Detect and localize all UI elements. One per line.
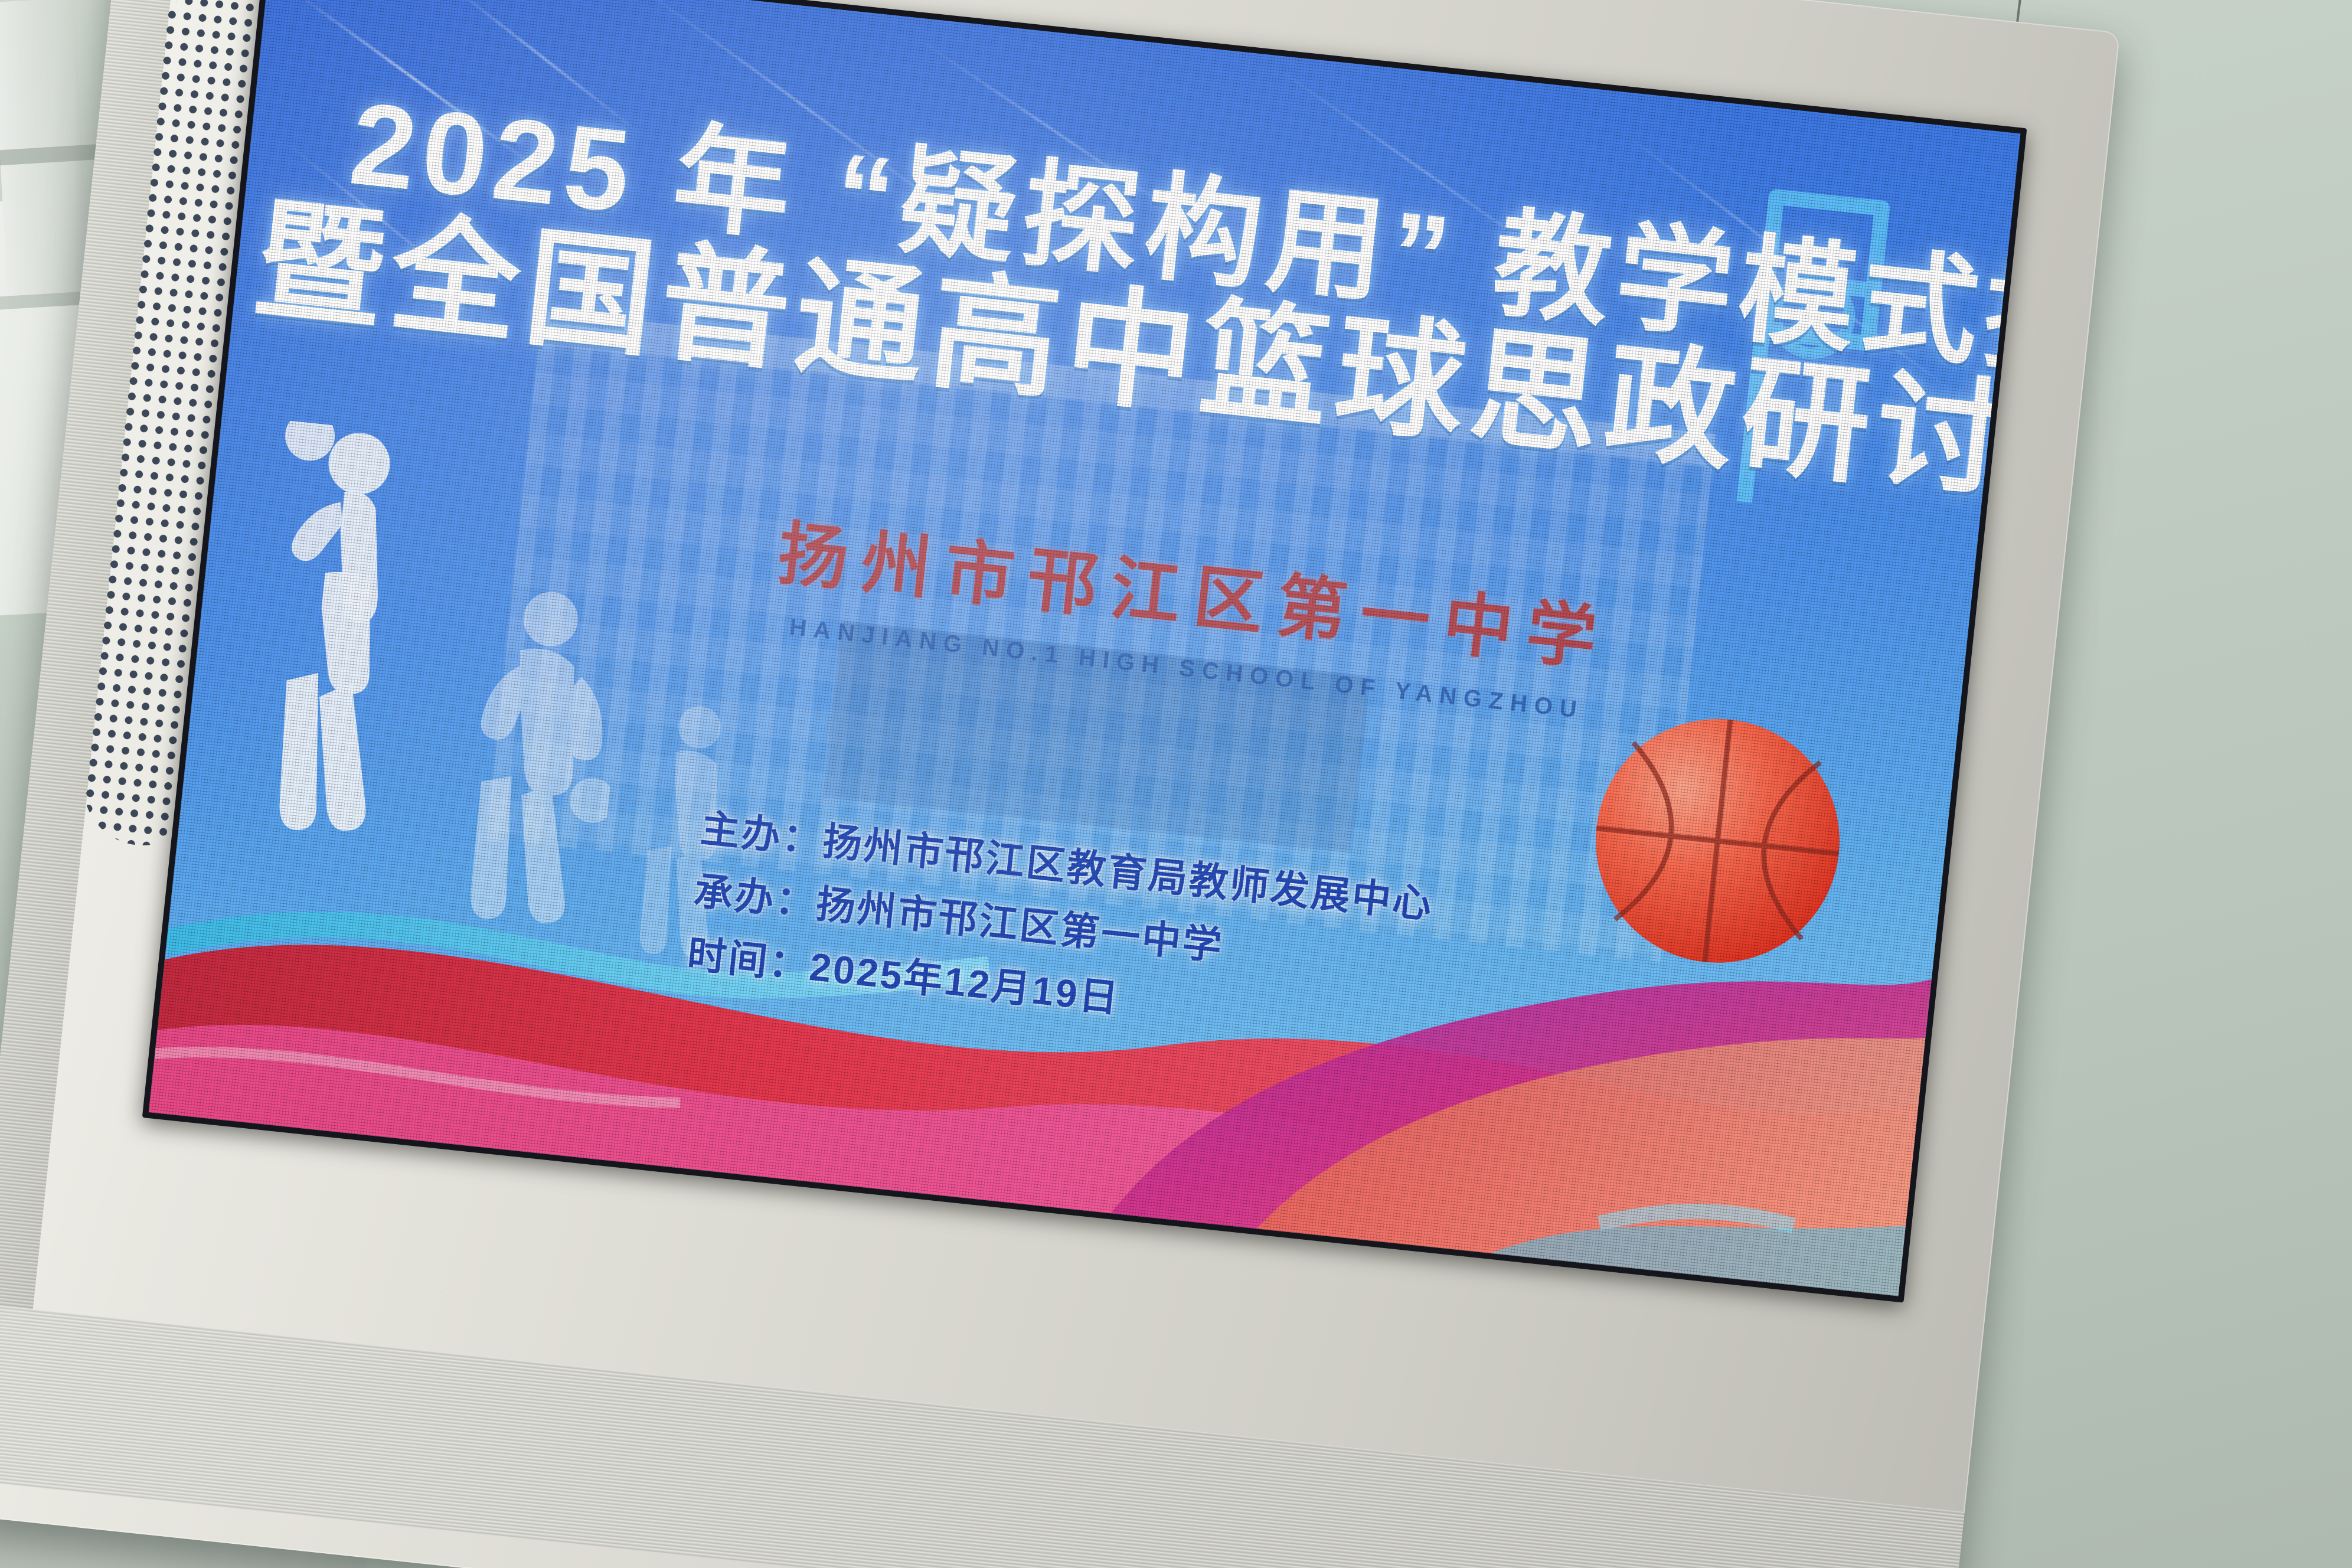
led-screen[interactable]: 2025 年 “疑探构用” 教学模式推进 暨全国普通高中篮球思政研讨活动 扬州市… — [149, 0, 2021, 1296]
screen-bezel: 2025 年 “疑探构用” 教学模式推进 暨全国普通高中篮球思政研讨活动 扬州市… — [142, 0, 2027, 1302]
event-info-block: 主办：扬州市邗江区教育局教师发展中心 承办：扬州市邗江区第一中学 时间：2025… — [684, 796, 1436, 1061]
photo-scene: 2025 年 “疑探构用” 教学模式推进 暨全国普通高中篮球思政研讨活动 扬州市… — [0, 0, 2352, 1568]
school-logo-block: 扬州市邗江区第一中学 HANJIANG NO.1 HIGH SCHOOL OF … — [716, 491, 1670, 731]
screen-text-layer: 2025 年 “疑探构用” 教学模式推进 暨全国普通高中篮球思政研讨活动 扬州市… — [149, 0, 2021, 1296]
led-display-unit: 2025 年 “疑探构用” 教学模式推进 暨全国普通高中篮球思政研讨活动 扬州市… — [0, 0, 2120, 1568]
